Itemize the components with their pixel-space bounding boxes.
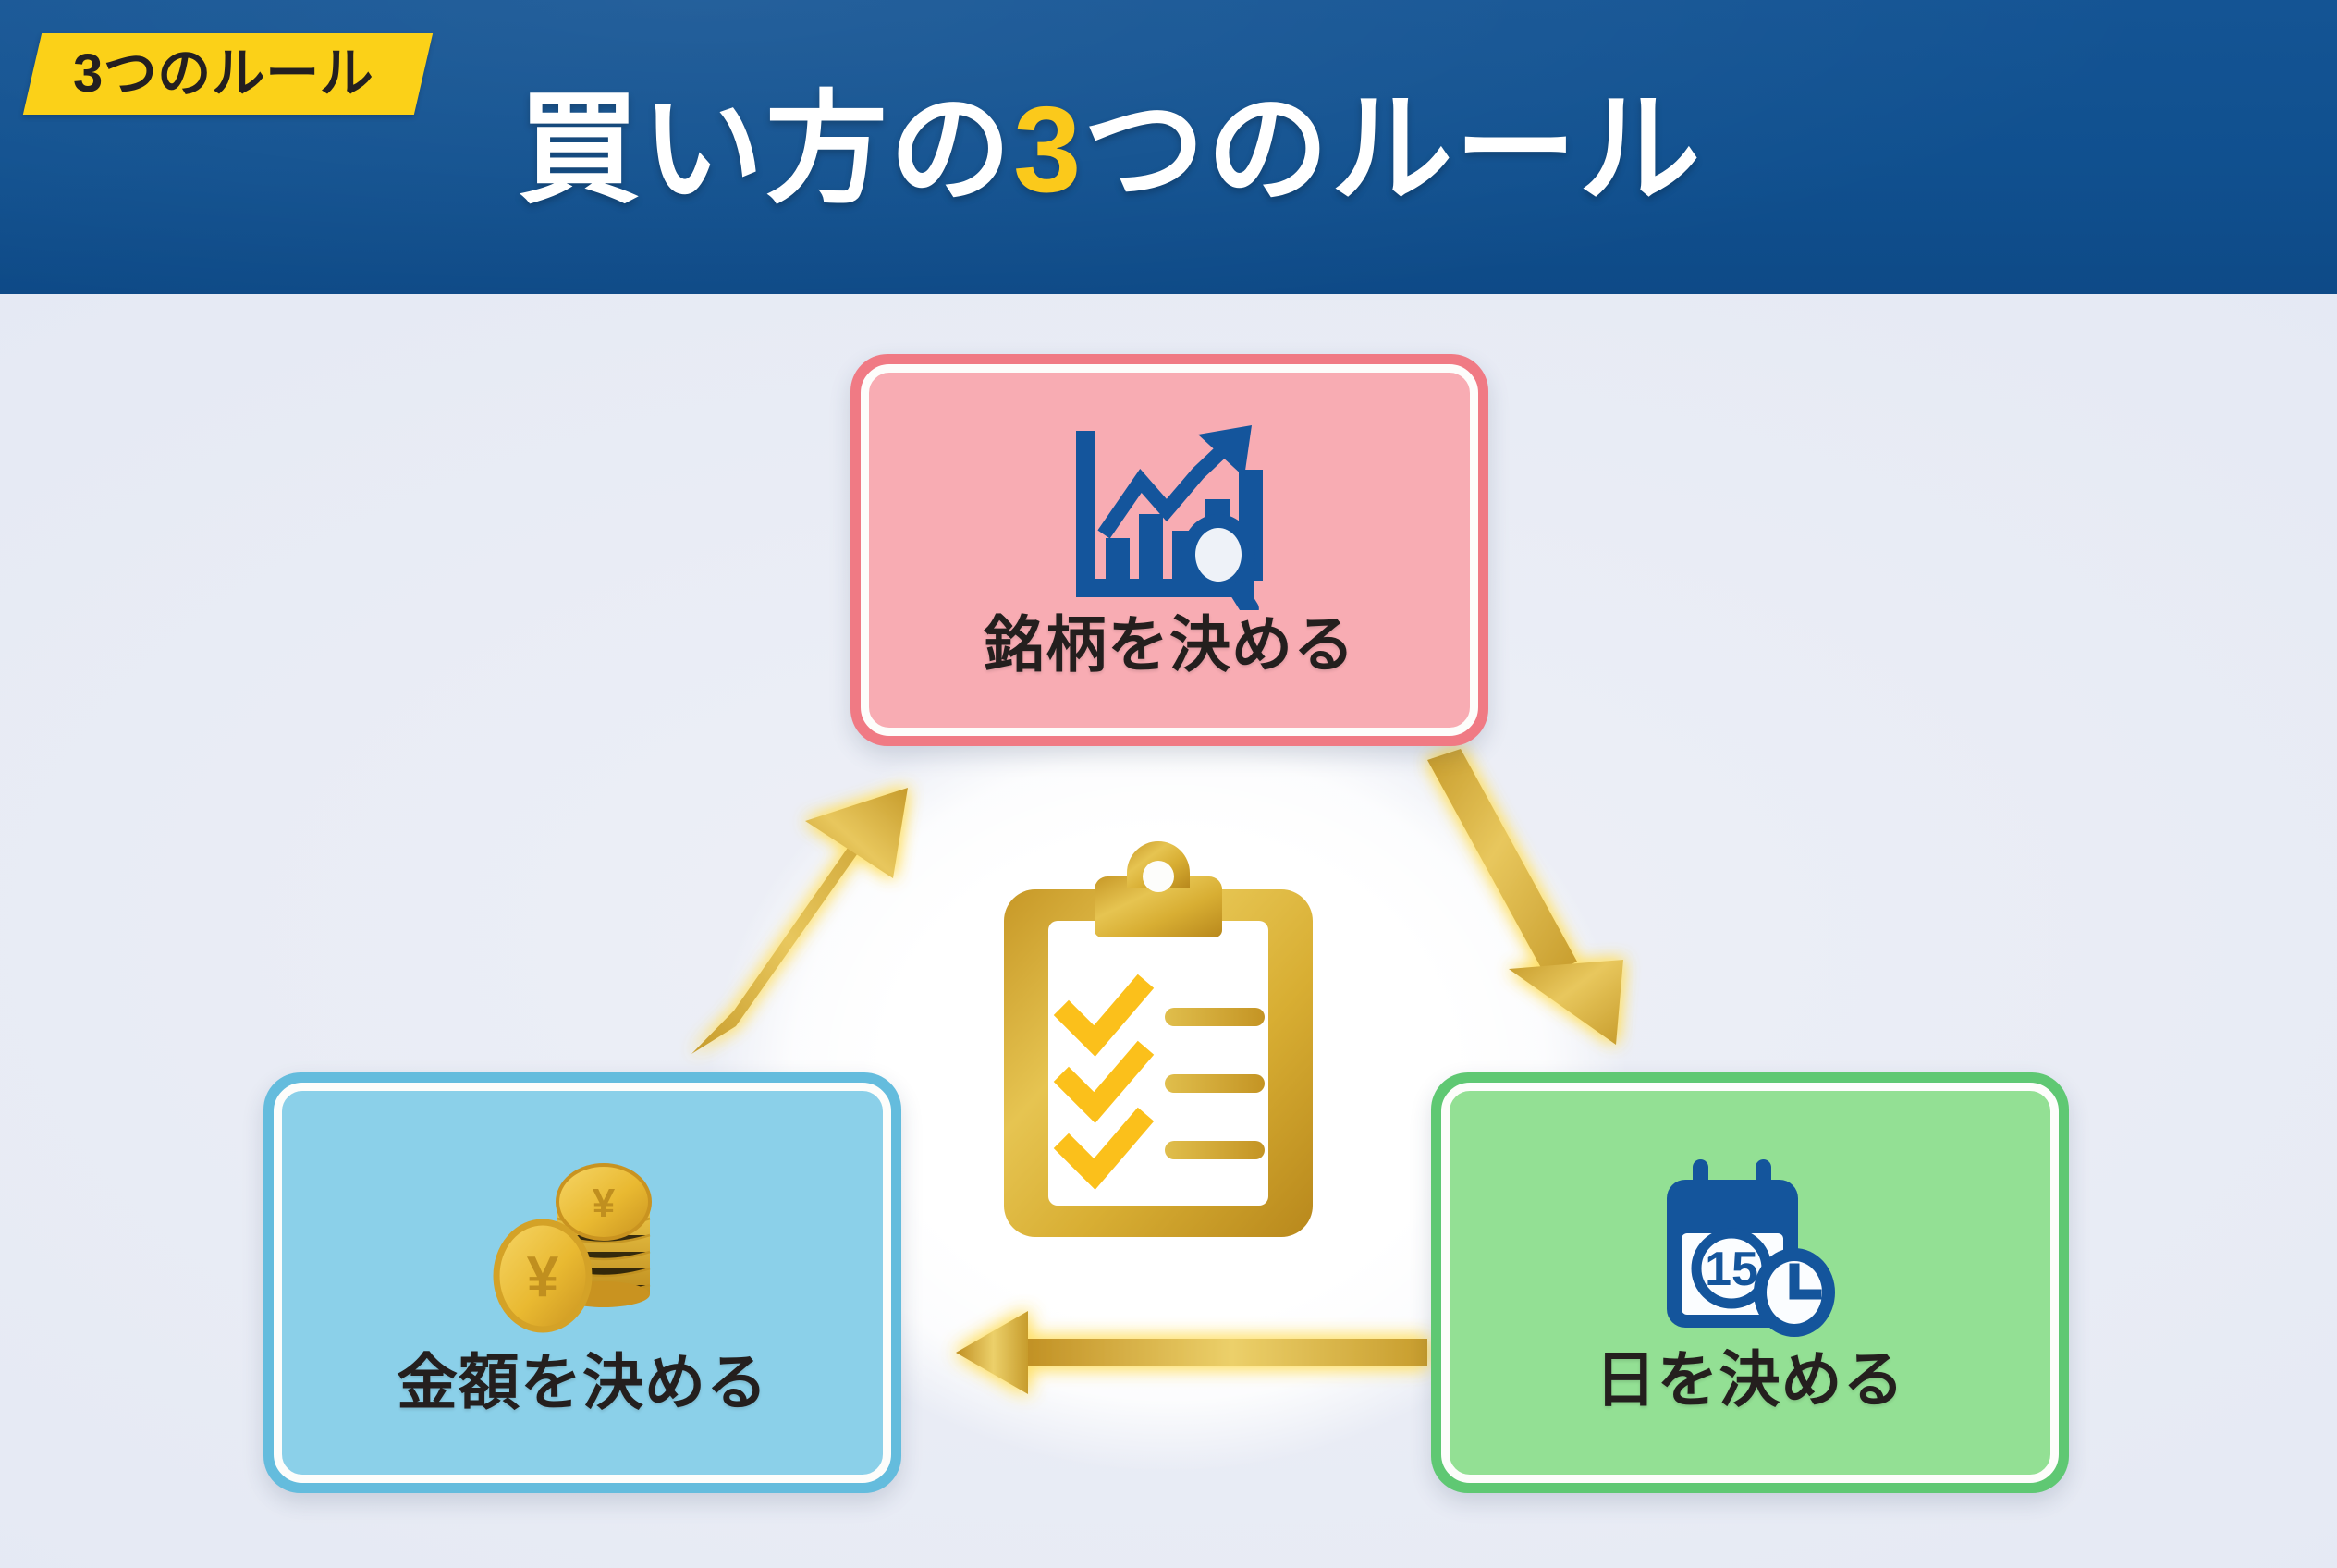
card-date-label: 日を決める [1596, 1349, 1905, 1410]
card-date-inner: 15 日を決める [1441, 1083, 2059, 1483]
arrow-date-to-amount [924, 1294, 1442, 1433]
page-title-highlight: 3 [1013, 81, 1083, 217]
rules-badge: 3つのルール [23, 33, 434, 115]
card-amount-label: 金額を決める [397, 1352, 768, 1413]
card-amount-inner: ¥ ¥ 金額を決める [274, 1083, 891, 1483]
card-stock[interactable]: 銘柄を決める [850, 354, 1488, 746]
card-date[interactable]: 15 日を決める [1431, 1072, 2069, 1493]
svg-text:¥: ¥ [593, 1181, 616, 1226]
yen-coins-icon: ¥ ¥ [476, 1154, 689, 1348]
card-date-body: 15 日を決める [1450, 1091, 2050, 1475]
card-amount-body: ¥ ¥ 金額を決める [282, 1091, 883, 1475]
svg-text:¥: ¥ [527, 1245, 559, 1309]
card-stock-body: 銘柄を決める [869, 373, 1470, 728]
bar-chart-magnifier-icon [1063, 425, 1276, 610]
card-stock-label: 銘柄を決める [984, 614, 1355, 675]
card-amount[interactable]: ¥ ¥ 金額を決める [263, 1072, 901, 1493]
arrow-amount-to-stock [675, 740, 980, 1072]
poster-canvas: 3つのルール 買い方の3つのルール [0, 0, 2337, 1568]
calendar-day-number: 15 [1705, 1243, 1758, 1296]
calendar-clock-icon: 15 [1646, 1156, 1854, 1345]
arrow-stock-to-date [1405, 740, 1710, 1072]
rules-badge-label: 3つのルール [73, 47, 373, 101]
card-stock-inner: 銘柄を決める [861, 364, 1478, 736]
page-title-part1: 買い方の [518, 81, 1013, 217]
clipboard-checklist-icon [969, 832, 1348, 1257]
page-title-part2: つのルール [1083, 81, 1702, 217]
header-bar: 3つのルール 買い方の3つのルール [0, 0, 2337, 294]
page-title: 買い方の3つのルール [518, 89, 1702, 211]
